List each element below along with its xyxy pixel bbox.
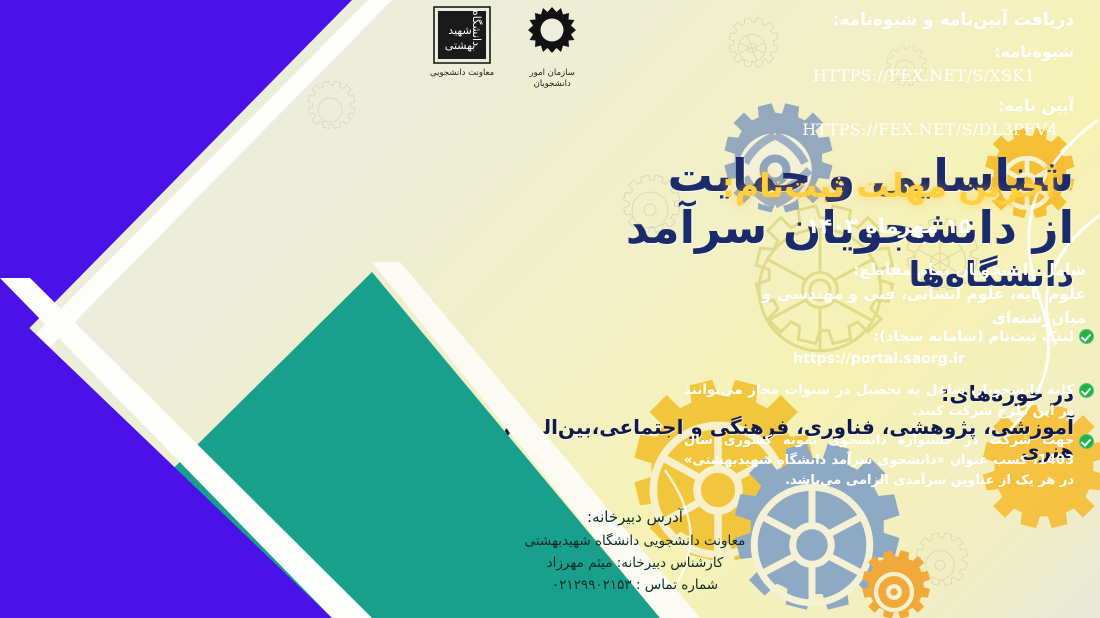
university-seal-icon: دانشگاه شهید بهشتی bbox=[433, 6, 491, 64]
downloads-heading: دریافت آیین‌نامه و شیوه‌نامه: bbox=[774, 10, 1074, 30]
deadline-heading: آخرین مهلت ثبت‌نام: bbox=[694, 166, 1084, 205]
poster-root: دانشگاه شهید بهشتی معاونت دانشجویی سازما… bbox=[0, 0, 1100, 618]
bullet-text: جهت شرکت در جشنواره دانشجوی نمونه کشوری … bbox=[684, 431, 1074, 490]
check-circle-icon bbox=[1079, 434, 1094, 449]
list-item: کلیه دانشجویان شاغل به تحصیل در سنوات مج… bbox=[684, 380, 1094, 421]
student-affairs-organization-logo: سازمان اموردانشجویان bbox=[516, 6, 588, 91]
eligibility-section: شامل دانشجویان تمام مقاطع: علوم پایه، عل… bbox=[691, 258, 1086, 330]
regulation-label: آیین نامه: bbox=[774, 96, 1074, 115]
registration-portal-link[interactable]: https://portal.saorg.ir bbox=[684, 349, 1074, 370]
bullet-list: لینک ثبت‌نام (سامانه سجاد): https://port… bbox=[684, 326, 1094, 501]
check-circle-icon bbox=[1079, 383, 1094, 398]
eligibility-line-1: شامل دانشجویان تمام مقاطع: bbox=[691, 258, 1086, 282]
list-item: جهت شرکت در جشنواره دانشجوی نمونه کشوری … bbox=[684, 431, 1094, 490]
eligibility-line-2: علوم پایه، علوم انسانی، فنی و مهندسی و م… bbox=[691, 282, 1086, 330]
organization-logo-caption: سازمان اموردانشجویان bbox=[530, 68, 575, 91]
secretariat-heading: آدرس دبیرخانه: bbox=[470, 508, 800, 526]
secretariat-contact-person: کارشناس دبیرخانه: میثم مهرزاد bbox=[470, 553, 800, 575]
secretariat-section: آدرس دبیرخانه: معاونت دانشجویی دانشگاه ش… bbox=[470, 508, 800, 597]
shahid-beheshti-university-logo: دانشگاه شهید بهشتی معاونت دانشجویی bbox=[430, 6, 494, 79]
university-logo-caption: معاونت دانشجویی bbox=[430, 68, 494, 79]
method-url-link[interactable]: HTTPS://FEX.NET/S/XSK1 bbox=[774, 66, 1074, 85]
check-circle-icon bbox=[1079, 329, 1094, 344]
method-label: شیوه‌نامه: bbox=[774, 42, 1074, 61]
logo-group: دانشگاه شهید بهشتی معاونت دانشجویی سازما… bbox=[430, 6, 650, 110]
secretariat-department: معاونت دانشجویی دانشگاه شهیدبهشتی bbox=[470, 531, 800, 553]
list-item: لینک ثبت‌نام (سامانه سجاد): https://port… bbox=[684, 326, 1094, 370]
regulation-url-link[interactable]: HTTPS://FEX.NET/S/DL3PFV4 bbox=[770, 120, 1090, 139]
sunburst-icon bbox=[516, 6, 588, 64]
deadline-date: ۱۵ مهرماه ۱۴۰۳ bbox=[694, 214, 1084, 238]
svg-text:شهید: شهید bbox=[448, 24, 471, 37]
secretariat-phone: شماره تماس : ۰۲۱۲۹۹۰۲۱۵۳ bbox=[470, 575, 800, 597]
bullet-label: لینک ثبت‌نام (سامانه سجاد): bbox=[873, 329, 1074, 345]
bullet-text: کلیه دانشجویان شاغل به تحصیل در سنوات مج… bbox=[684, 380, 1074, 421]
bullet-text: لینک ثبت‌نام (سامانه سجاد): https://port… bbox=[684, 326, 1074, 370]
svg-text:بهشتی: بهشتی bbox=[445, 39, 475, 52]
